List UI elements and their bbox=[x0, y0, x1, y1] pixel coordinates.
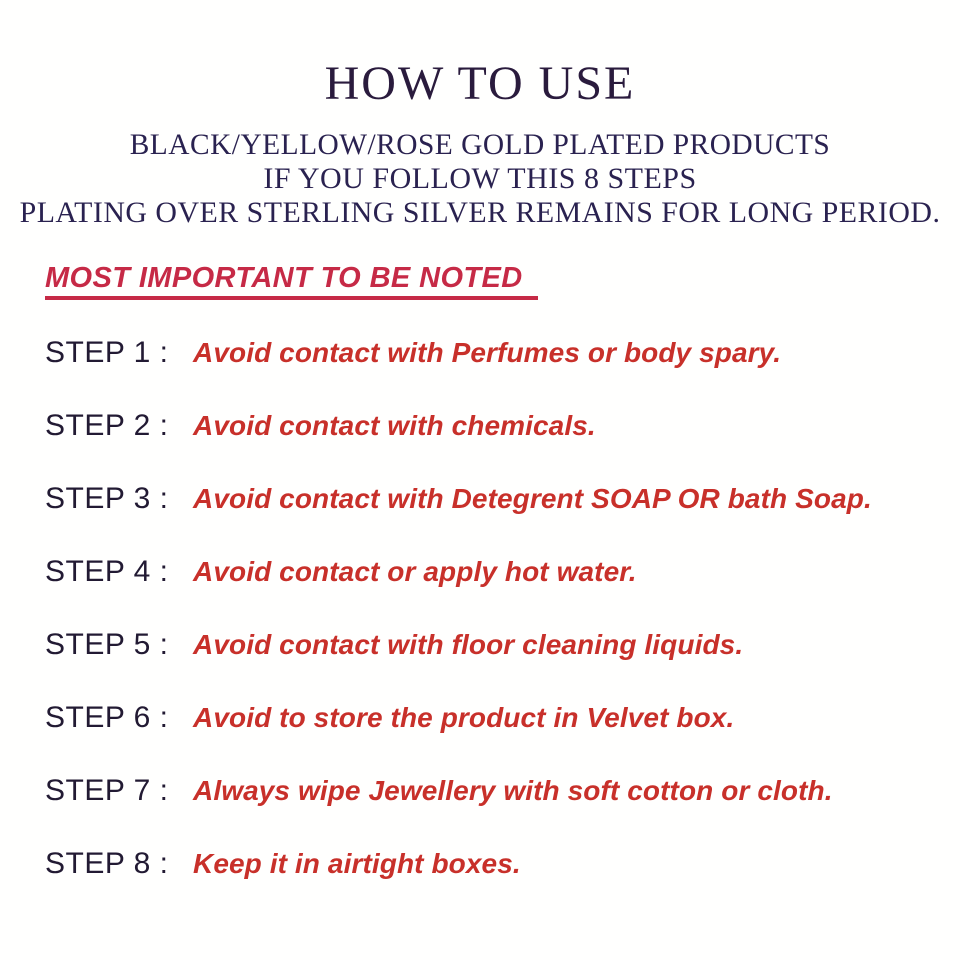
step-label-5: STEP 5 : bbox=[45, 627, 169, 663]
step-row: STEP 8 : Keep it in airtight boxes. bbox=[0, 846, 960, 919]
subtitle-line-3: PLATING OVER STERLING SILVER REMAINS FOR… bbox=[2, 196, 957, 230]
step-label-8: STEP 8 : bbox=[45, 846, 169, 882]
step-text-6: Avoid to store the product in Velvet box… bbox=[193, 700, 734, 736]
subtitle-block: BLACK/YELLOW/ROSE GOLD PLATED PRODUCTS I… bbox=[0, 128, 960, 230]
step-label-7: STEP 7 : bbox=[45, 773, 169, 809]
step-text-7: Always wipe Jewellery with soft cotton o… bbox=[193, 773, 833, 809]
step-text-5: Avoid contact with floor cleaning liquid… bbox=[193, 627, 743, 663]
step-row: STEP 3 : Avoid contact with Detegrent SO… bbox=[0, 481, 960, 554]
page-title: HOW TO USE bbox=[0, 58, 960, 110]
subtitle-line-2: IF YOU FOLLOW THIS 8 STEPS bbox=[0, 162, 960, 196]
step-label-2: STEP 2 : bbox=[45, 408, 169, 444]
step-text-8: Keep it in airtight boxes. bbox=[193, 846, 521, 882]
step-row: STEP 2 : Avoid contact with chemicals. bbox=[0, 408, 960, 481]
step-row: STEP 6 : Avoid to store the product in V… bbox=[0, 700, 960, 773]
step-text-4: Avoid contact or apply hot water. bbox=[193, 554, 637, 590]
important-notice-underline bbox=[45, 296, 538, 300]
step-label-6: STEP 6 : bbox=[45, 700, 169, 736]
step-label-4: STEP 4 : bbox=[45, 554, 169, 590]
step-row: STEP 5 : Avoid contact with floor cleani… bbox=[0, 627, 960, 700]
step-row: STEP 1 : Avoid contact with Perfumes or … bbox=[0, 335, 960, 408]
step-label-1: STEP 1 : bbox=[45, 335, 169, 371]
step-label-3: STEP 3 : bbox=[45, 481, 169, 517]
important-notice-heading: MOST IMPORTANT TO BE NOTED bbox=[45, 262, 523, 294]
step-row: STEP 4 : Avoid contact or apply hot wate… bbox=[0, 554, 960, 627]
steps-list: STEP 1 : Avoid contact with Perfumes or … bbox=[0, 335, 960, 919]
step-text-1: Avoid contact with Perfumes or body spar… bbox=[193, 335, 781, 371]
step-row: STEP 7 : Always wipe Jewellery with soft… bbox=[0, 773, 960, 846]
how-to-use-poster: HOW TO USE BLACK/YELLOW/ROSE GOLD PLATED… bbox=[0, 0, 960, 960]
step-text-2: Avoid contact with chemicals. bbox=[193, 408, 596, 444]
step-text-3: Avoid contact with Detegrent SOAP OR bat… bbox=[193, 481, 872, 517]
subtitle-line-1: BLACK/YELLOW/ROSE GOLD PLATED PRODUCTS bbox=[10, 128, 951, 162]
